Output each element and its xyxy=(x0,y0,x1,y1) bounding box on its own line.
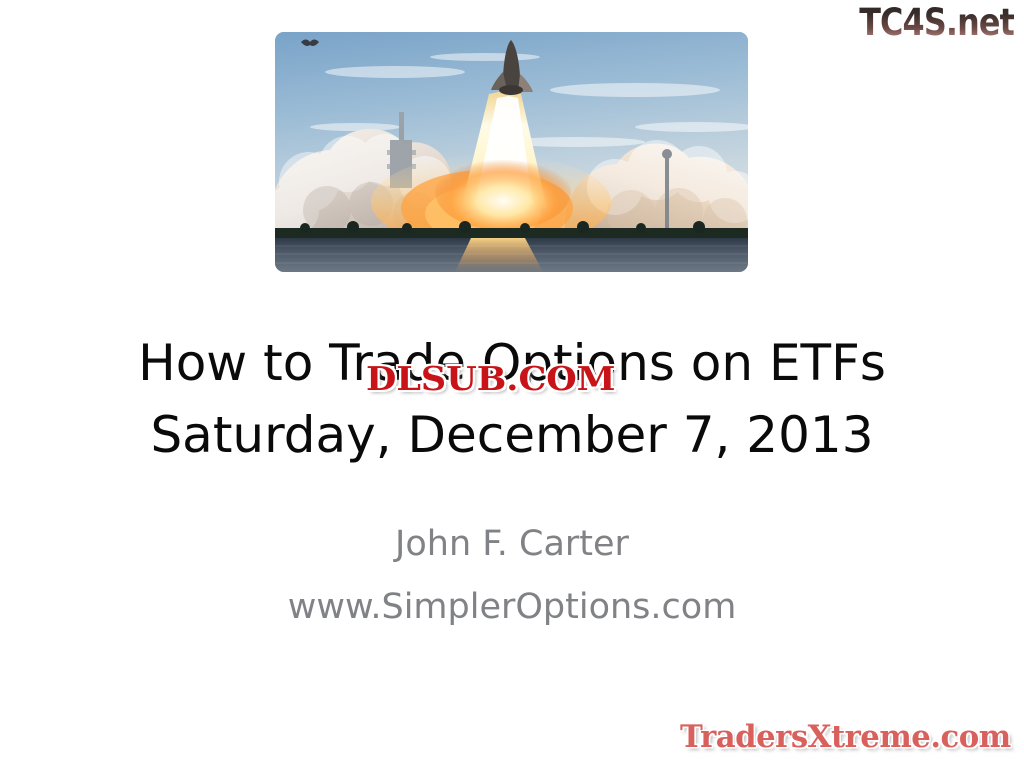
rocket-launch-image xyxy=(275,32,748,272)
rocket-launch-illustration xyxy=(275,32,748,272)
title-line-2: Saturday, December 7, 2013 xyxy=(0,399,1024,471)
dlsub-watermark: DLSUB.COM xyxy=(366,359,615,399)
page-title: How to Trade Options on ETFs Saturday, D… xyxy=(0,327,1024,471)
tc4s-logo-icon: TC4S.net xyxy=(859,2,1014,44)
presenter-website: www.SimplerOptions.com xyxy=(0,576,1024,639)
presentation-slide: TC4S.net xyxy=(0,0,1024,768)
presenter-name: John F. Carter xyxy=(0,513,1024,576)
tradersxtreme-watermark: TradersXtreme.com xyxy=(680,718,1011,756)
subtitle: John F. Carter www.SimplerOptions.com xyxy=(0,513,1024,639)
